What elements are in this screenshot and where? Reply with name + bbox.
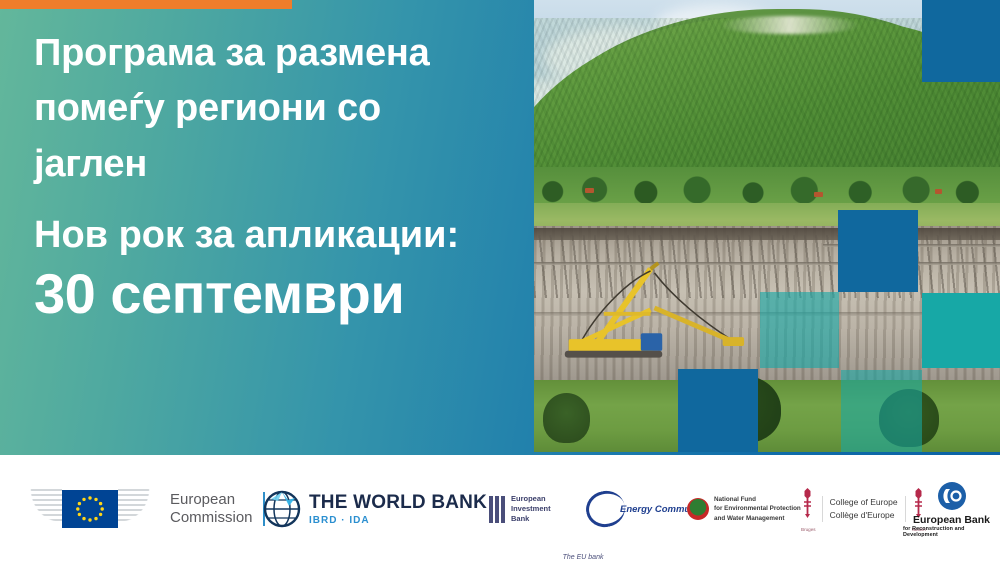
decor-square-blue-topright [922,0,1000,82]
logo-ebrd: European Bank for Reconstruction and Dev… [903,455,1000,563]
world-bank-title: THE WORLD BANK [309,492,487,514]
village-roof [814,192,823,197]
decor-square-blue-center [838,210,918,292]
deadline-date: 30 септември [34,263,534,326]
ec-wordmark: European Commission [170,491,253,526]
nf-line-2: for Environmental Protection [714,504,801,513]
logo-national-fund: National Fund for Environmental Protecti… [687,455,801,563]
nf-line-3: and Water Management [714,514,801,523]
ebrd-mark-icon [937,481,967,511]
globe-icon [262,489,302,529]
orange-accent-bar [0,0,292,9]
promo-banner: Програма за размена помеѓу региони со ја… [0,0,1000,455]
bush [543,393,590,443]
hill-ridge-highlight [720,16,860,34]
coe-crest-left-wrap: Bruges [801,486,816,532]
eib-bars-icon [489,496,505,523]
national-fund-mark-icon [687,498,709,520]
deadline-label: Нов рок за апликации: [34,210,534,260]
logo-european-commission: European Commission [18,455,265,563]
eib-line-1: European [511,494,551,504]
eib-line-3: Bank [511,514,551,524]
eib-wordmark: European Investment Bank [511,494,551,524]
ebrd-line-1: European Bank [913,514,990,526]
decor-square-teal-translucent-lower [841,370,922,452]
treeline [534,167,1000,208]
ec-line-1: European [170,491,253,509]
decor-square-teal-right [922,293,1000,368]
ec-swoosh-right-icon [118,489,162,529]
coe-campus-left: Bruges [801,527,816,532]
village-roof [935,189,942,194]
ec-line-2: Commission [170,509,253,527]
headline-block: Програма за размена помеѓу региони со ја… [34,26,534,325]
world-bank-wordmark: THE WORLD BANK IBRD · IDA [309,492,487,526]
world-bank-subtitle: IBRD · IDA [309,515,487,526]
coe-line-2: Collège d'Europe [830,509,898,522]
decor-square-blue-bottom [678,369,758,452]
logo-world-bank: THE WORLD BANK IBRD · IDA [262,455,487,563]
headline-line-1: Програма за размена [34,26,534,81]
headline-line-2: помеѓу региони со [34,81,534,136]
nf-line-1: National Fund [714,495,801,504]
eib-line-2: Investment [511,504,551,514]
headline-line-3: јаглен [34,137,534,192]
coe-wordmark: College of Europe Collège d'Europe [822,496,906,522]
national-fund-wordmark: National Fund for Environmental Protecti… [714,495,801,522]
eu-flag-icon [62,490,118,528]
coe-crest-bruges-icon [801,486,814,520]
ebrd-line-2: for Reconstruction and Development [903,526,1000,538]
energy-community-arc-icon [583,487,629,530]
ec-swoosh-left-icon [18,489,62,529]
partner-logo-bar: European Commission THE WORLD BANK IBRD … [0,455,1000,563]
village-roof [585,188,594,193]
dragline-excavator-icon [557,235,771,389]
coe-line-1: College of Europe [830,496,898,509]
decor-square-teal-translucent-left [760,292,839,368]
